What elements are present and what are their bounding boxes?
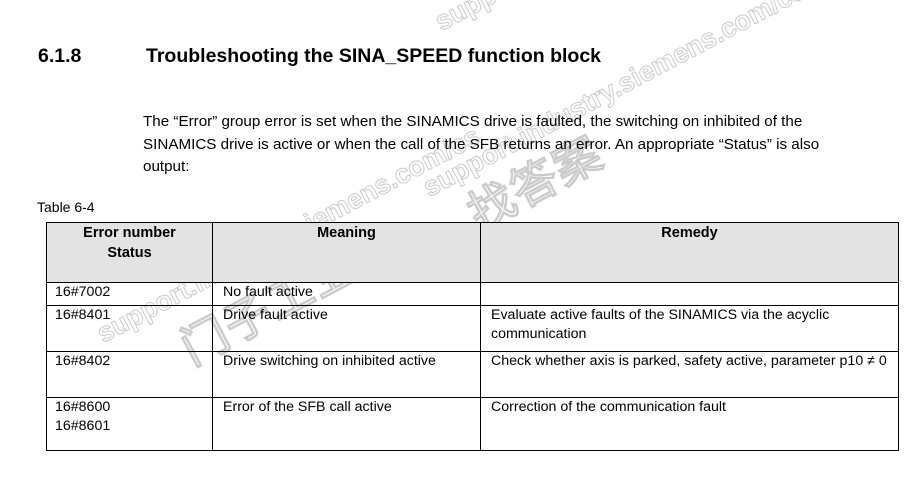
table-row: 16#8402 Drive switching on inhibited act… bbox=[47, 352, 899, 398]
cell-remedy: Evaluate active faults of the SINAMICS v… bbox=[481, 306, 899, 352]
cell-meaning: No fault active bbox=[213, 283, 481, 306]
column-header-meaning: Meaning bbox=[213, 223, 481, 283]
section-heading: 6.1.8 Troubleshooting the SINA_SPEED fun… bbox=[38, 45, 878, 68]
cell-meaning: Drive fault active bbox=[213, 306, 481, 352]
watermark-url-top: support.industry.siemens.com/cs bbox=[430, 0, 823, 37]
cell-meaning: Drive switching on inhibited active bbox=[213, 352, 481, 398]
error-table-wrapper: Error number Status Meaning Remedy 16#70… bbox=[46, 222, 898, 451]
cell-error-number: 16#8401 bbox=[47, 306, 213, 352]
cell-error-number: 16#8402 bbox=[47, 352, 213, 398]
cell-meaning: Error of the SFB call active bbox=[213, 398, 481, 451]
cell-remedy: Check whether axis is parked, safety act… bbox=[481, 352, 899, 398]
section-title: Troubleshooting the SINA_SPEED function … bbox=[146, 45, 601, 68]
column-header-status-line2: Status bbox=[47, 243, 212, 263]
column-header-error-number-line1: Error number bbox=[83, 225, 176, 241]
cell-remedy: Correction of the communication fault bbox=[481, 398, 899, 451]
table-row: 16#7002 No fault active bbox=[47, 283, 899, 306]
section-number: 6.1.8 bbox=[38, 45, 146, 68]
table-row: 16#8401 Drive fault active Evaluate acti… bbox=[47, 306, 899, 352]
intro-paragraph: The “Error” group error is set when the … bbox=[143, 111, 863, 179]
cell-remedy bbox=[481, 283, 899, 306]
table-row: 16#8600 16#8601 Error of the SFB call ac… bbox=[47, 398, 899, 451]
cell-error-number: 16#7002 bbox=[47, 283, 213, 306]
table-body: 16#7002 No fault active 16#8401 Drive fa… bbox=[47, 283, 899, 451]
column-header-remedy: Remedy bbox=[481, 223, 899, 283]
column-header-error-number: Error number Status bbox=[47, 223, 213, 283]
table-header: Error number Status Meaning Remedy bbox=[47, 223, 899, 283]
cell-error-number: 16#8600 16#8601 bbox=[47, 398, 213, 451]
table-caption: Table 6-4 bbox=[37, 199, 95, 215]
error-code-table: Error number Status Meaning Remedy 16#70… bbox=[46, 222, 899, 451]
table-header-row: Error number Status Meaning Remedy bbox=[47, 223, 899, 283]
